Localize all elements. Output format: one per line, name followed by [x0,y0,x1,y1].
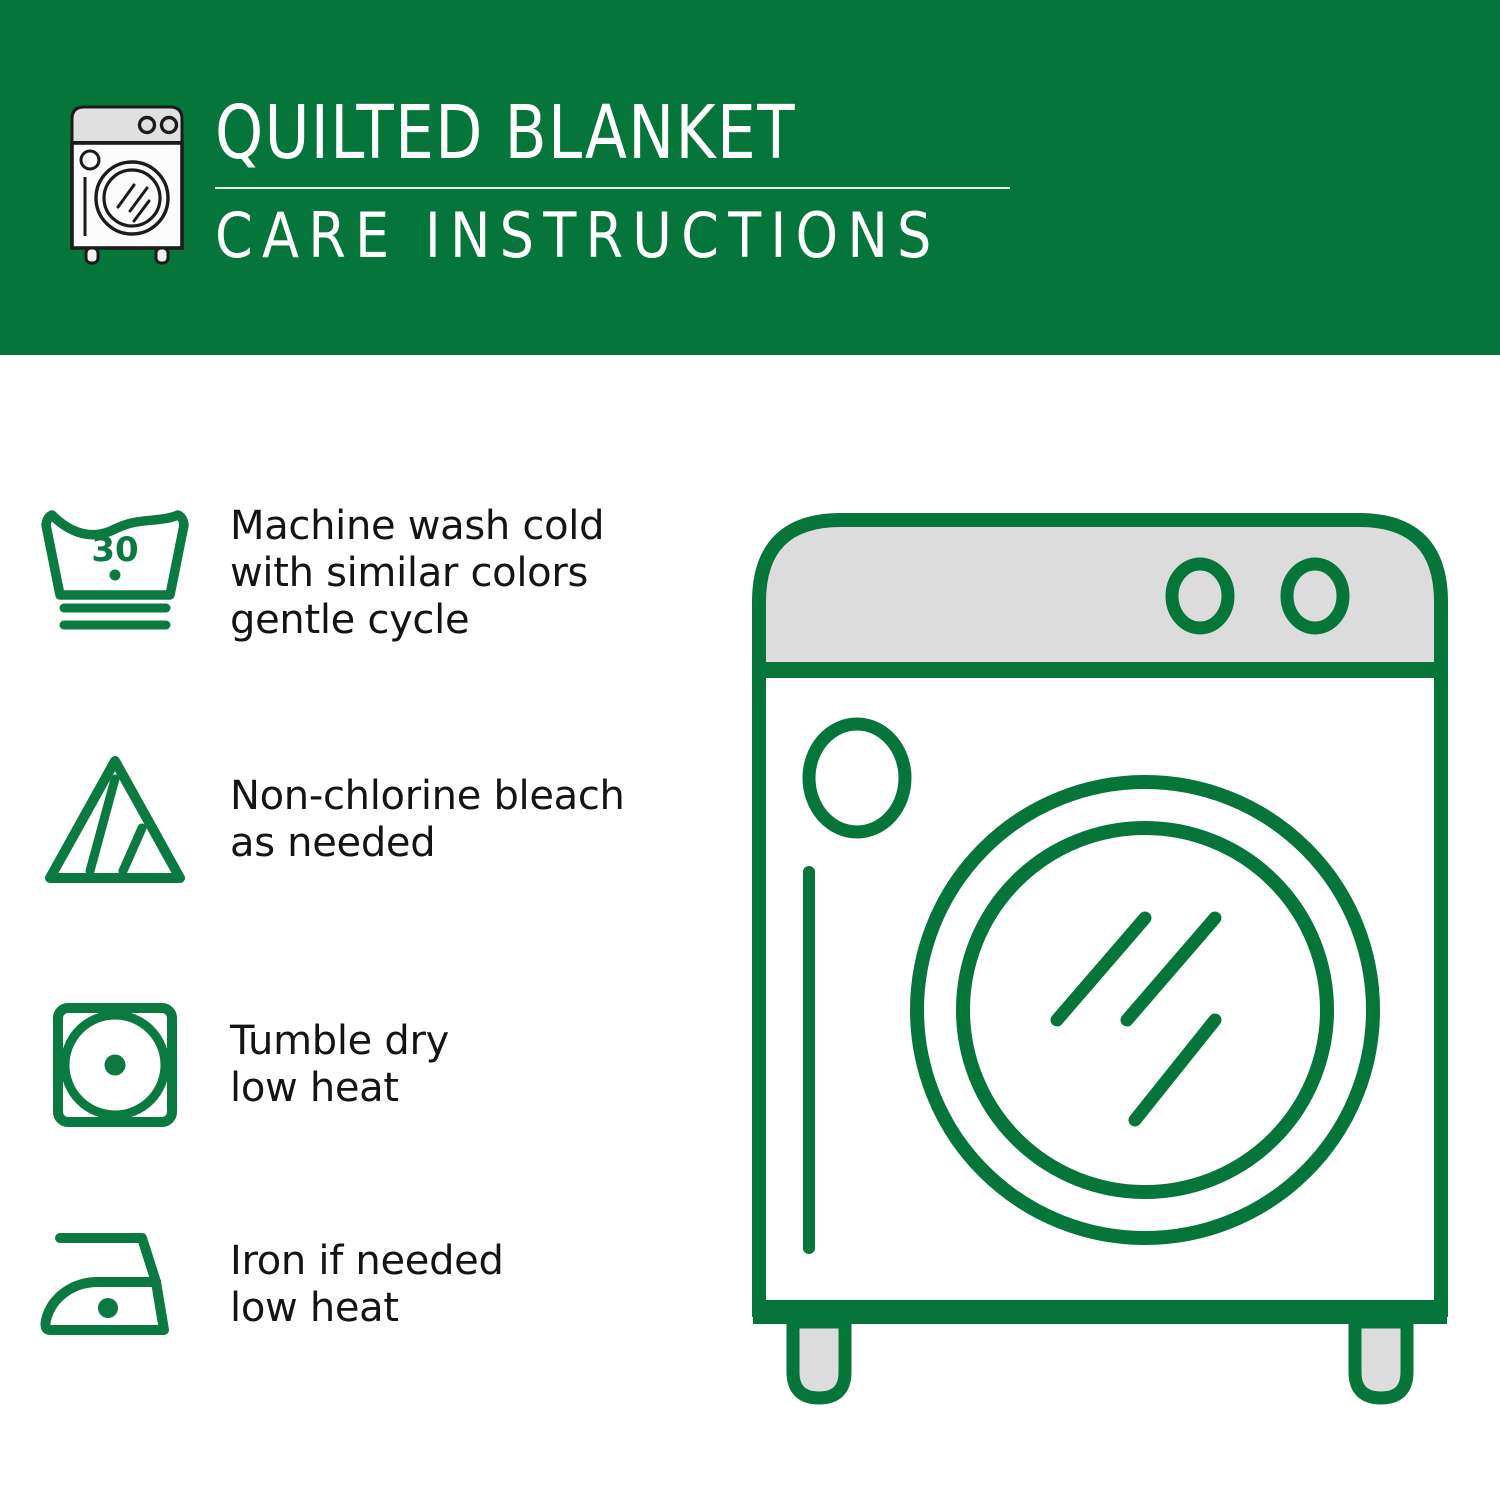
wash-tub-30-icon: 30 [0,503,230,643]
care-instruction-list: 30 Machine wash cold with similar colors… [0,355,740,1500]
tumble-dry-low-icon [0,990,230,1140]
header-banner: QUILTED BLANKET CARE INSTRUCTIONS [0,0,1500,355]
page-title: QUILTED BLANKET [215,96,951,171]
care-item-label: Machine wash cold with similar colors ge… [230,503,604,643]
washing-machine-illustration [745,500,1455,1425]
care-item-label: Iron if needed low heat [230,1238,504,1332]
care-item-label: Tumble dry low heat [230,1018,449,1112]
care-item-label: Non-chlorine bleach as needed [230,773,625,867]
page-subtitle: CARE INSTRUCTIONS [215,203,991,268]
wash-temperature-value: 30 [91,530,138,570]
care-item-machine-wash: 30 Machine wash cold with similar colors… [0,503,740,643]
care-instructions-page: QUILTED BLANKET CARE INSTRUCTIONS 30 [0,0,1500,1500]
care-item-bleach: Non-chlorine bleach as needed [0,745,740,895]
iron-low-heat-icon [0,1220,230,1350]
washing-machine-icon [62,103,192,268]
bleach-triangle-icon [0,745,230,895]
header-text-block: QUILTED BLANKET CARE INSTRUCTIONS [215,96,1015,269]
title-divider [215,187,1010,189]
machine-leg [1355,1322,1407,1398]
care-item-iron: Iron if needed low heat [0,1220,740,1350]
care-item-tumble-dry: Tumble dry low heat [0,990,740,1140]
machine-leg [793,1322,845,1398]
